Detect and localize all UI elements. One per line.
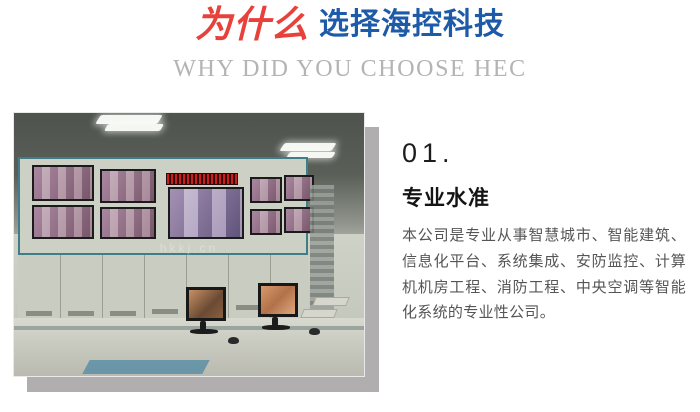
wall-screen <box>100 207 156 239</box>
page-header: 为什么选择海控科技 WHY DID YOU CHOOSE HEC <box>0 0 700 95</box>
page-title-blue: 选择海控科技 <box>319 7 505 42</box>
feature-number: 01. <box>402 140 686 167</box>
photo-block: hkkj.cn <box>13 112 365 377</box>
wall-screen-main <box>168 187 244 239</box>
mouse-icon <box>228 337 239 344</box>
page-title: 为什么选择海控科技 <box>0 6 700 43</box>
keyboard-icon <box>312 297 350 306</box>
feature-heading: 专业水准 <box>402 188 686 209</box>
ceiling-lamp-icon <box>279 143 336 151</box>
control-room-photo: hkkj.cn <box>13 112 365 377</box>
wall-screen <box>32 205 94 239</box>
led-sign <box>166 173 238 185</box>
keyboard-icon <box>300 309 338 318</box>
page-subtitle: WHY DID YOU CHOOSE HEC <box>0 56 700 83</box>
desktop-monitor <box>186 287 226 321</box>
video-wall <box>18 157 308 255</box>
ceiling-lamp-icon <box>104 124 164 131</box>
feature-body-text: 本公司是专业从事智慧城市、智能建筑、信息化平台、系统集成、安防监控、计算机机房工… <box>402 223 686 326</box>
page-title-red: 为什么 <box>195 3 309 46</box>
operator-desk <box>14 318 364 376</box>
server-rack <box>310 185 334 315</box>
ceiling-lamp-icon <box>95 115 163 124</box>
mouse-icon <box>309 328 320 335</box>
wall-screen <box>32 165 94 201</box>
desktop-monitor <box>258 283 298 317</box>
wall-screen <box>250 177 282 203</box>
feature-item: 01. 专业水准 本公司是专业从事智慧城市、智能建筑、信息化平台、系统集成、安防… <box>402 140 686 326</box>
wall-screen <box>250 209 282 235</box>
wall-screen <box>100 169 156 203</box>
